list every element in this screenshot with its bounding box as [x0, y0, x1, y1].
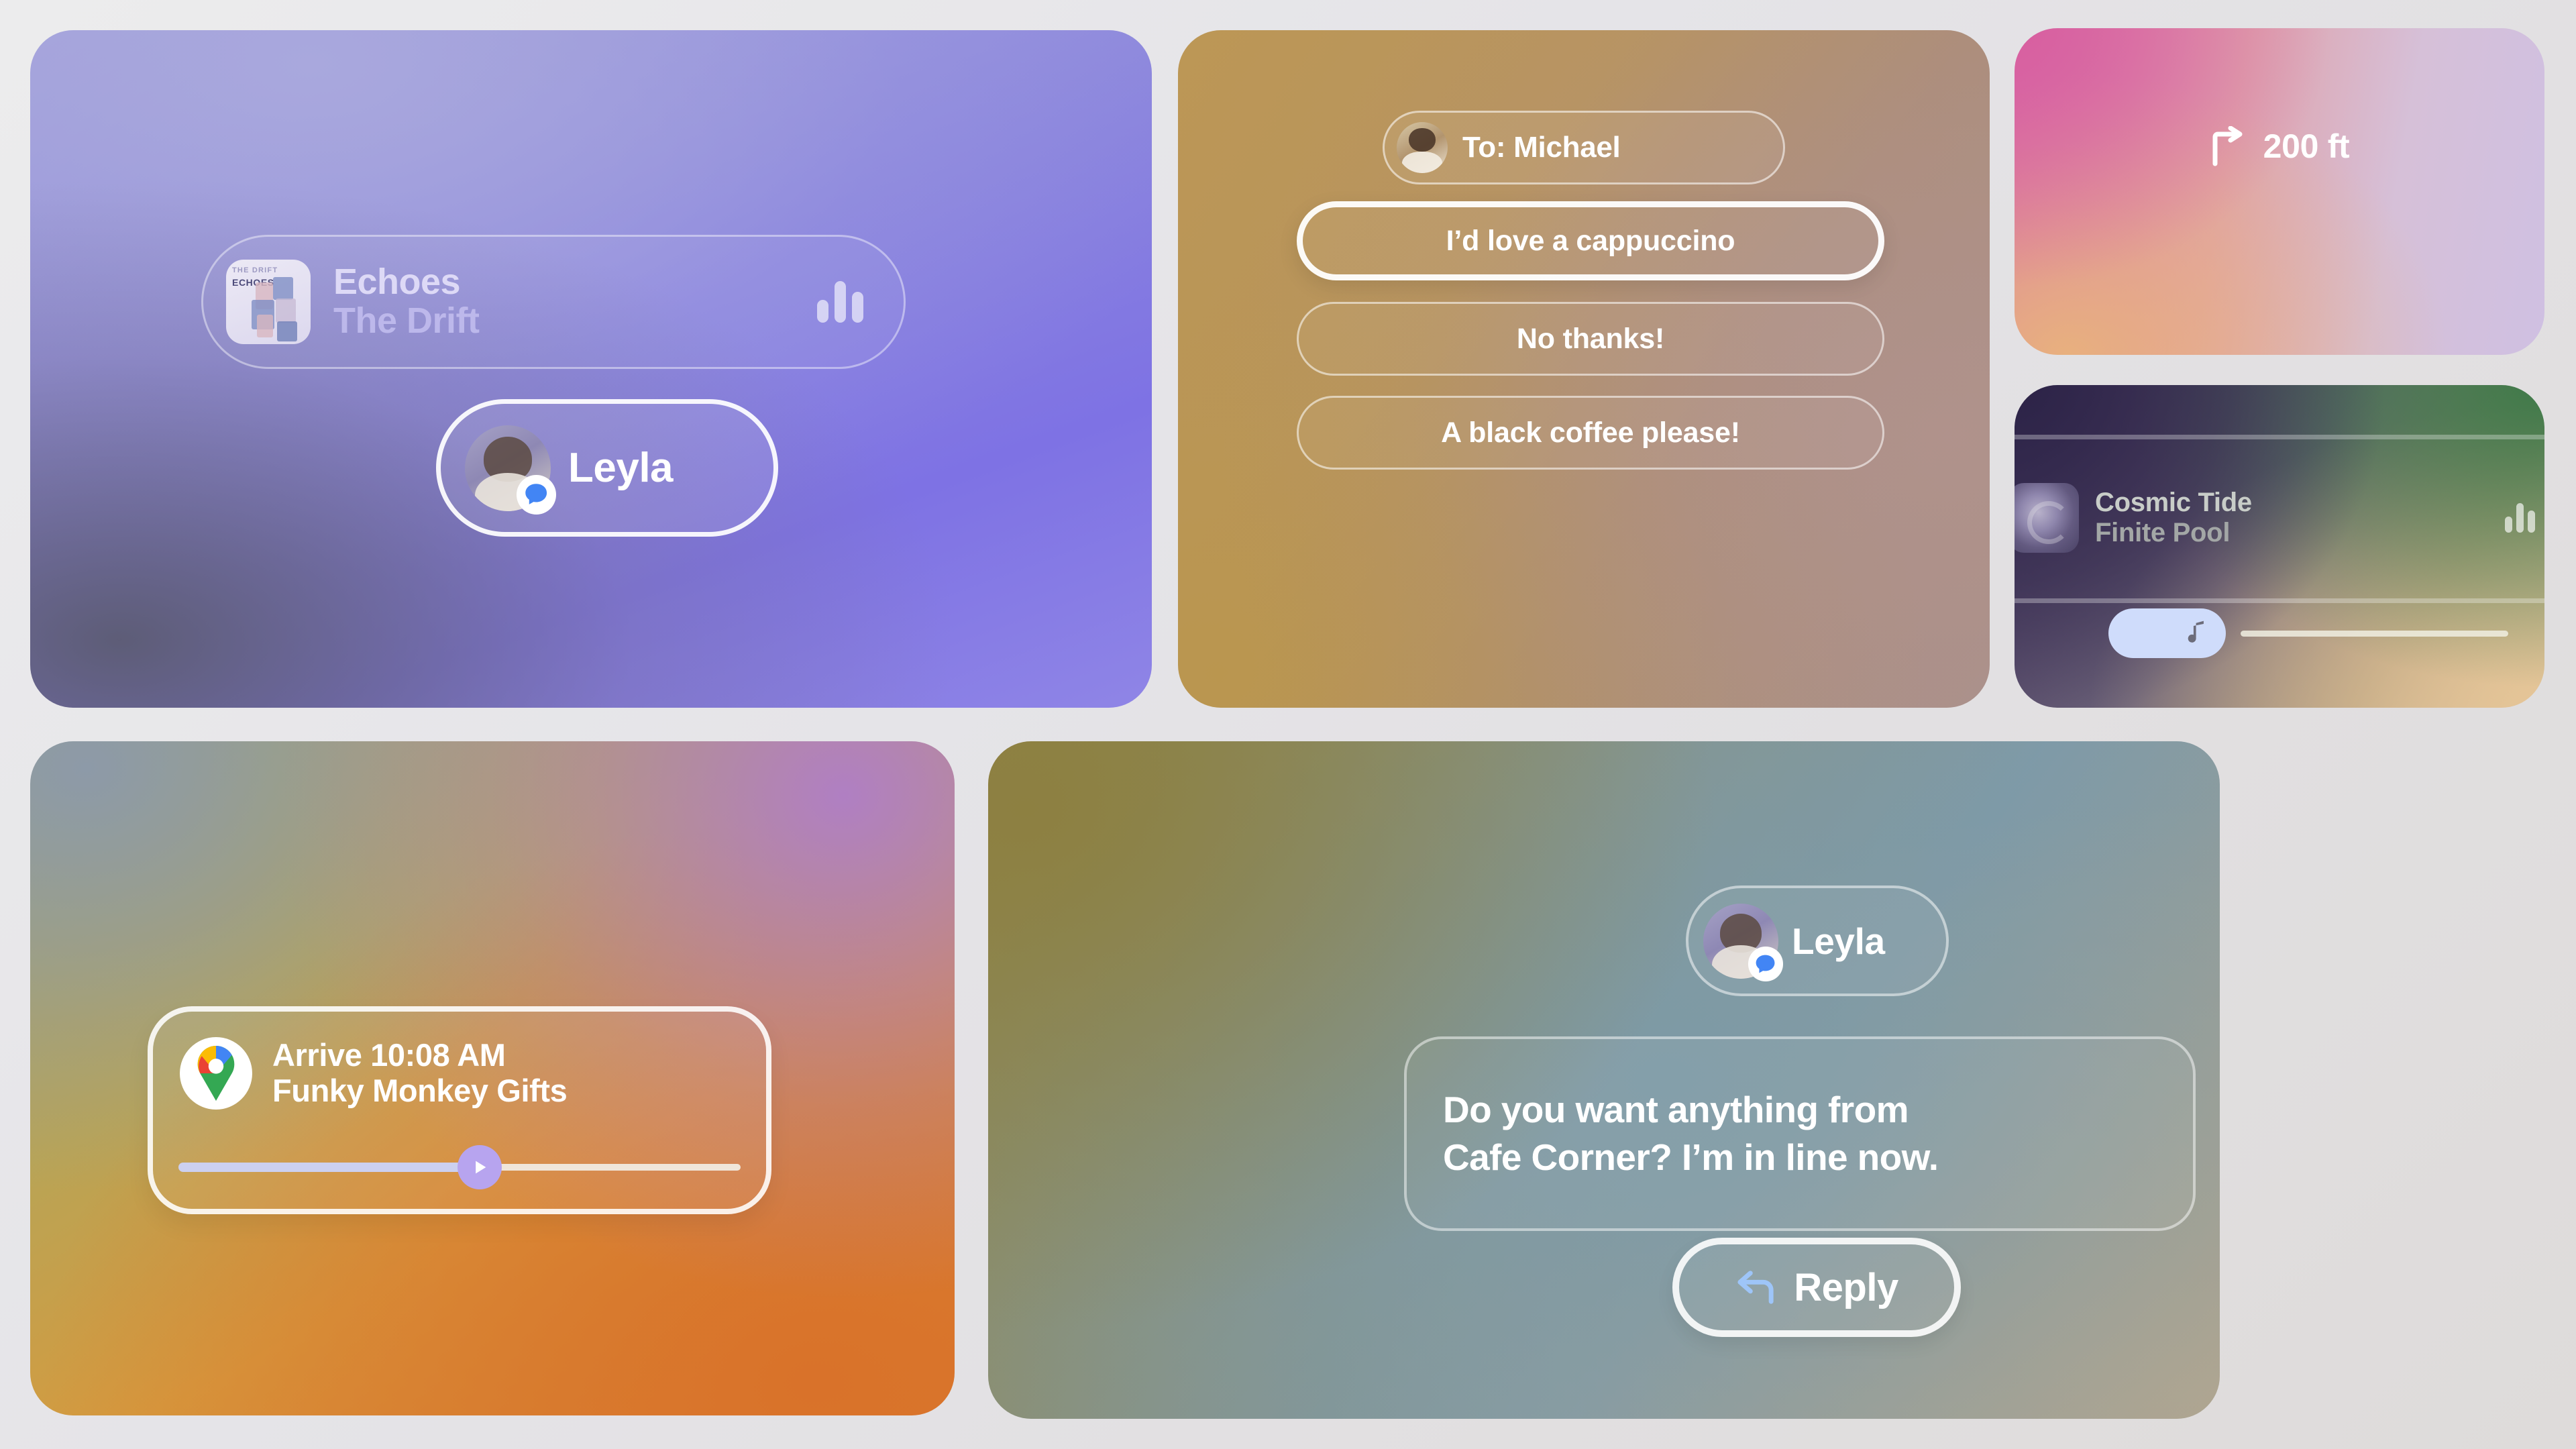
track-artist: The Drift	[333, 301, 794, 341]
avatar	[1703, 904, 1778, 979]
track-title: Echoes	[333, 263, 794, 301]
equalizer-bars-icon	[817, 281, 863, 323]
equalizer-bars-icon	[2505, 503, 2535, 533]
reply-arrow-icon	[1735, 1269, 1776, 1305]
card-trip[interactable]: Arrive 10:08 AM Funky Monkey Gifts 8:32	[30, 741, 955, 1415]
message-line-1: Do you want anything from	[1443, 1086, 1938, 1134]
trip-progress-rest	[471, 1164, 741, 1171]
card-music-mini[interactable]: Cosmic Tide Finite Pool	[2015, 385, 2544, 708]
trip-text: Arrive 10:08 AM Funky Monkey Gifts	[272, 1038, 567, 1108]
navigation-row: 200 ft	[2015, 126, 2544, 166]
reply-option-label: No thanks!	[1517, 323, 1664, 356]
card-reply-options[interactable]: To: Michael I’d love a cappuccino No tha…	[1178, 30, 1990, 708]
track-title: Cosmic Tide	[2095, 488, 2489, 517]
trip-progress-slider[interactable]	[178, 1156, 741, 1179]
now-playing-text: Echoes The Drift	[333, 263, 794, 341]
reply-button-label: Reply	[1794, 1265, 1898, 1310]
widget-canvas: THE DRIFT ECHOES Echoes The Drift	[0, 0, 2576, 1449]
divider	[2015, 435, 2544, 439]
recipient-label: To: Michael	[1462, 131, 1620, 164]
reply-option-label: I’d love a cappuccino	[1446, 225, 1735, 258]
reply-option-1[interactable]: No thanks!	[1297, 302, 1884, 376]
album-art-icon: THE DRIFT ECHOES	[226, 260, 311, 344]
reply-option-label: A black coffee please!	[1441, 417, 1740, 449]
trip-destination: Funky Monkey Gifts	[272, 1073, 567, 1109]
music-slider-track[interactable]	[2241, 631, 2508, 637]
contact-name: Leyla	[568, 444, 673, 492]
play-arrow-icon[interactable]	[458, 1145, 502, 1189]
divider	[2015, 598, 2544, 603]
reply-option-2[interactable]: A black coffee please!	[1297, 396, 1884, 470]
music-slider[interactable]	[2108, 606, 2508, 660]
mini-now-playing: Cosmic Tide Finite Pool	[2015, 483, 2544, 553]
message-body: Do you want anything from Cafe Corner? I…	[1443, 1086, 1938, 1182]
trip-header: Arrive 10:08 AM Funky Monkey Gifts	[180, 1037, 739, 1110]
recipient-chip[interactable]: To: Michael	[1383, 111, 1785, 184]
messages-bubble-icon	[1748, 947, 1783, 981]
trip-arrival: Arrive 10:08 AM	[272, 1038, 567, 1073]
avatar	[1397, 122, 1448, 173]
messages-bubble-icon	[517, 475, 556, 515]
avatar	[465, 425, 551, 511]
music-slider-knob[interactable]	[2108, 608, 2226, 658]
card-navigation[interactable]: 200 ft	[2015, 28, 2544, 355]
now-playing-pill[interactable]: THE DRIFT ECHOES Echoes The Drift	[201, 235, 906, 369]
contact-chip-leyla[interactable]: Leyla	[436, 399, 778, 537]
card-message[interactable]: Leyla Do you want anything from Cafe Cor…	[988, 741, 2220, 1419]
music-note-icon	[2186, 619, 2208, 648]
message-bubble: Do you want anything from Cafe Corner? I…	[1404, 1036, 2196, 1231]
google-maps-pin-icon	[180, 1037, 252, 1110]
turn-right-icon	[2210, 126, 2247, 166]
album-art-icon	[2015, 483, 2079, 553]
reply-button[interactable]: Reply	[1672, 1238, 1961, 1337]
track-artist: Finite Pool	[2095, 517, 2489, 548]
sender-chip[interactable]: Leyla	[1686, 885, 1949, 996]
navigation-distance: 200 ft	[2263, 127, 2350, 166]
trip-panel[interactable]: Arrive 10:08 AM Funky Monkey Gifts	[148, 1006, 771, 1214]
sender-name: Leyla	[1792, 920, 1885, 963]
trip-progress-fill	[178, 1163, 471, 1172]
album-art-line1: THE DRIFT	[232, 266, 278, 274]
reply-option-0[interactable]: I’d love a cappuccino	[1297, 201, 1884, 280]
card-music-player[interactable]: THE DRIFT ECHOES Echoes The Drift	[30, 30, 1152, 708]
message-line-2: Cafe Corner? I’m in line now.	[1443, 1134, 1938, 1182]
